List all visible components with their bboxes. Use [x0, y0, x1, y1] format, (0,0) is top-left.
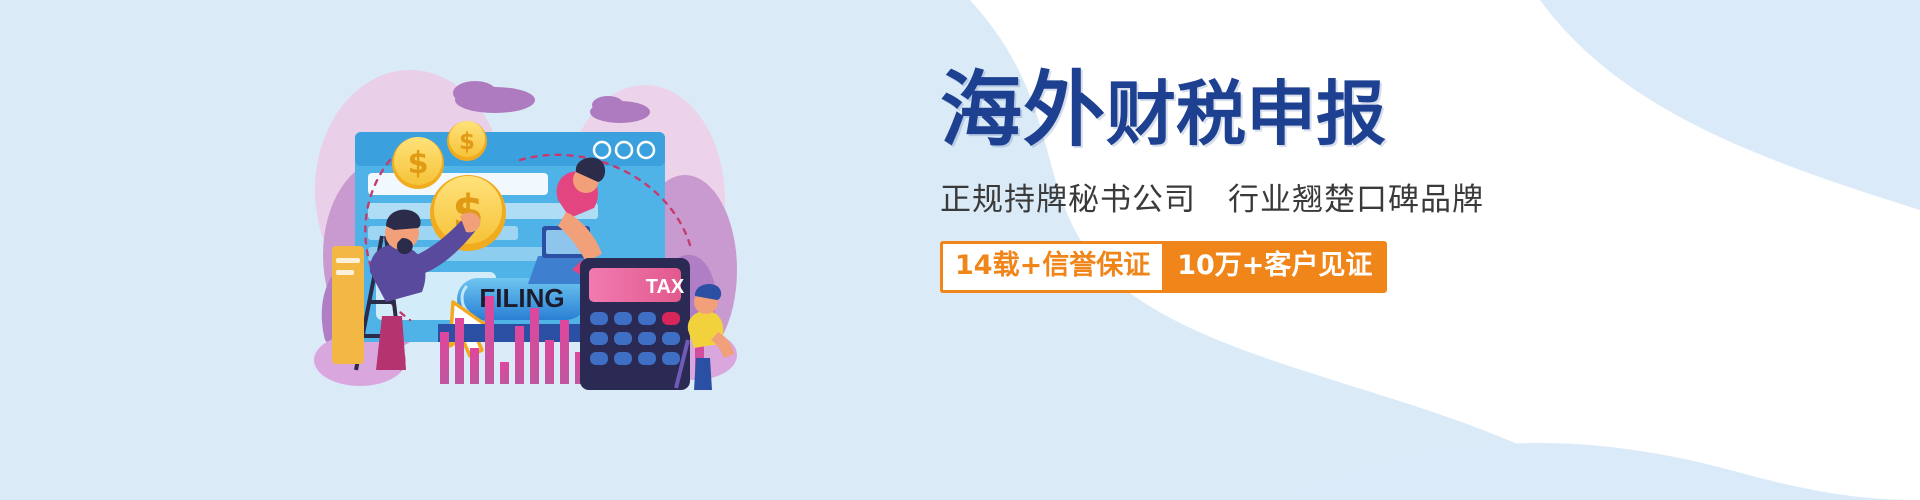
headline-part-b: 财税申报: [1106, 73, 1386, 155]
subtitle: 正规持牌秘书公司 行业翘楚口碑品牌: [940, 174, 1560, 219]
page-title: 海外财税申报: [940, 70, 1560, 152]
document-line: [336, 258, 360, 263]
status-badge-credit: 14载+信誉保证: [940, 241, 1162, 293]
svg-text:$: $: [459, 129, 475, 155]
calculator: TAX: [580, 258, 690, 390]
badge-row: 14载+信誉保证 10万+客户见证: [940, 241, 1560, 293]
copy-block: 海外财税申报 正规持牌秘书公司 行业翘楚口碑品牌 14载+信誉保证 10万+客户…: [940, 70, 1560, 293]
banner-root: $ $ $: [0, 0, 1920, 500]
status-badge-customers: 10万+客户见证: [1162, 241, 1387, 293]
document-line: [336, 270, 354, 275]
coin-small-top: $: [447, 121, 487, 161]
filing-button[interactable]: FILING: [457, 278, 587, 320]
calculator-label: TAX: [646, 276, 685, 298]
document-stack: [332, 246, 364, 364]
headline-part-a: 海外: [940, 63, 1106, 158]
coin-small-left: $: [392, 137, 444, 189]
hero-illustration: $ $ $: [290, 40, 750, 390]
calculator-key-accent: [662, 312, 680, 325]
svg-text:$: $: [408, 146, 429, 181]
